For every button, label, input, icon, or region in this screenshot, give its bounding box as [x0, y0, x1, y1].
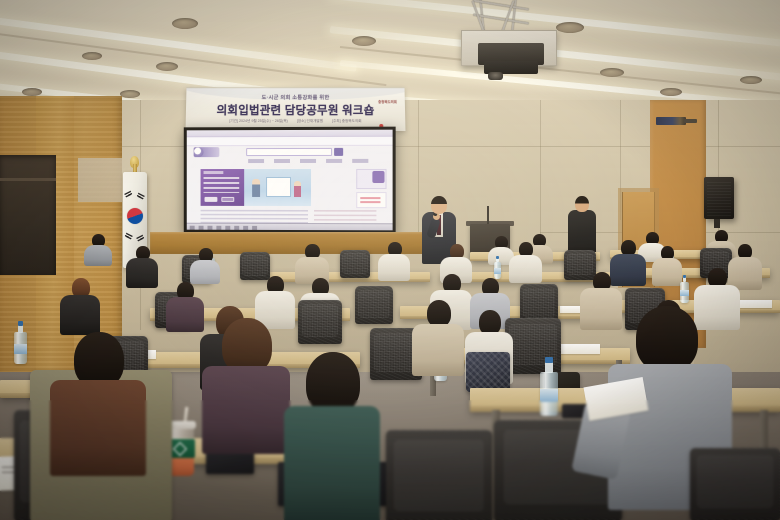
bottle-label	[540, 389, 558, 402]
chair-back	[690, 448, 780, 520]
bottle-cap	[18, 321, 24, 325]
banner-place: [장소] 인재개발원	[297, 119, 323, 123]
attendee-head	[306, 352, 360, 414]
wall-speaker	[704, 177, 734, 219]
attendee	[126, 246, 158, 286]
handbag	[466, 352, 510, 392]
chair[interactable]	[355, 286, 393, 324]
recessed-ceiling-fixture	[120, 90, 140, 98]
bottle-cap	[545, 357, 553, 363]
chair-mesh	[697, 455, 773, 508]
recessed-ceiling-fixture	[22, 88, 42, 96]
microphone-stand	[487, 206, 489, 224]
seminar-room-photo: 도·시군 의회 소통강화를 위한 의회입법관련 담당공무원 워크숍 [기간] 2…	[0, 0, 780, 520]
bag-pattern	[466, 352, 510, 392]
attendee	[509, 242, 542, 282]
wall-fixture-arm	[684, 119, 697, 123]
site-side-badge	[372, 171, 384, 183]
attendee-foreground	[50, 332, 146, 472]
attendee-torso	[84, 245, 112, 266]
handout-paper	[556, 344, 600, 354]
attendee	[412, 300, 464, 372]
attendee	[60, 278, 100, 332]
water-bottle	[494, 262, 501, 279]
attendee-head	[427, 300, 451, 327]
chair[interactable]	[690, 448, 780, 520]
hero-primary-button[interactable]	[205, 197, 218, 202]
banner-title: 의회입법관련 담당공무원 워크숍	[186, 102, 405, 118]
ceiling-projector	[455, 0, 575, 80]
attendee-torso	[509, 255, 542, 283]
bottle-label	[680, 290, 689, 296]
attendee	[295, 244, 329, 282]
attendee-torso	[166, 297, 204, 332]
attendee	[84, 234, 112, 264]
chair-mesh	[242, 255, 267, 276]
illustration-person	[252, 179, 260, 197]
site-search-input[interactable]	[246, 148, 332, 156]
attendee	[166, 282, 204, 330]
water-bottle	[540, 372, 558, 416]
handout-paper	[740, 300, 772, 308]
chair-mesh	[302, 304, 339, 337]
banner-date: [기간] 2024년 9월 25일(수) ~ 26일(목)	[229, 119, 287, 123]
trigram-icon	[136, 193, 145, 201]
hero-banner-left	[201, 169, 245, 206]
wall-fixture	[656, 117, 686, 125]
attendee	[378, 242, 410, 280]
speaker-bracket	[714, 219, 720, 228]
attendee	[190, 248, 220, 282]
staff-head	[575, 196, 589, 212]
chair[interactable]	[386, 430, 492, 520]
illustration-person	[294, 181, 301, 197]
recessed-ceiling-fixture	[660, 88, 682, 96]
taeguk-icon	[127, 208, 143, 224]
projector-tray	[461, 30, 557, 66]
banner-details: [기간] 2024년 9월 25일(수) ~ 26일(목) [장소] 인재개발원…	[186, 119, 406, 124]
hero-illustration	[244, 169, 311, 206]
attendee-torso	[60, 295, 100, 335]
attendee	[652, 246, 682, 284]
attendee-foreground	[284, 352, 380, 520]
coffee-brand-icon	[173, 442, 187, 456]
bottle-cap	[496, 256, 499, 258]
projection-screen	[184, 127, 396, 234]
attendee-torso	[284, 406, 380, 520]
trigram-icon	[124, 191, 133, 199]
presenter-head	[431, 196, 447, 214]
chair-mesh	[394, 440, 483, 511]
attendee-torso	[190, 260, 220, 284]
attendee-torso	[378, 254, 410, 281]
chair[interactable]	[340, 250, 370, 278]
site-nav-bar	[187, 137, 393, 147]
site-logo-icon	[194, 147, 204, 157]
recessed-ceiling-fixture	[740, 76, 762, 84]
recessed-ceiling-fixture	[600, 68, 624, 77]
recessed-ceiling-fixture	[82, 52, 102, 60]
hero-text-lines	[204, 177, 240, 193]
trigram-icon	[136, 235, 145, 243]
hero-tag	[204, 171, 224, 174]
chair-mesh	[358, 290, 390, 318]
recessed-ceiling-fixture	[156, 62, 178, 71]
site-side-panel-secondary	[356, 192, 386, 208]
site-nav-links[interactable]	[248, 159, 378, 163]
bottle-label	[494, 268, 501, 273]
search-icon[interactable]	[334, 148, 343, 156]
chair-mesh	[342, 253, 367, 274]
trigram-icon	[124, 233, 133, 241]
banner-org-logo: 충청북도의회	[378, 99, 397, 104]
hero-secondary-button[interactable]	[221, 197, 234, 202]
attendee-torso	[202, 366, 290, 454]
chair-back	[355, 286, 393, 324]
projector-lens-icon	[488, 72, 503, 80]
event-banner: 도·시군 의회 소통강화를 위한 의회입법관련 담당공무원 워크숍 [기간] 2…	[185, 87, 405, 131]
chair-mesh	[523, 288, 555, 318]
chair[interactable]	[298, 300, 342, 344]
windows-taskbar[interactable]	[187, 223, 393, 231]
attendee-torso	[652, 258, 682, 286]
bottle-cap	[683, 275, 687, 278]
attendee-foreground	[202, 318, 290, 448]
chair-back	[386, 430, 492, 520]
recessed-ceiling-fixture	[172, 18, 198, 29]
left-wall-alcove	[0, 155, 56, 275]
chair-back	[340, 250, 370, 278]
attendee-torso	[50, 380, 146, 476]
attendee-torso	[126, 258, 158, 288]
bottle-label	[14, 344, 27, 354]
water-bottle	[14, 332, 27, 364]
attendee-head	[636, 306, 698, 372]
left-wall-alcove-rail	[0, 178, 56, 181]
projected-website	[187, 130, 393, 231]
illustration-board	[266, 177, 291, 197]
attendee-torso	[412, 324, 464, 376]
chair-back	[298, 300, 342, 344]
recessed-ceiling-fixture	[352, 36, 376, 46]
banner-subtitle: 도·시군 의회 소통강화를 위한	[186, 94, 405, 101]
banner-host: [주최] 충청북도의회	[332, 119, 362, 123]
